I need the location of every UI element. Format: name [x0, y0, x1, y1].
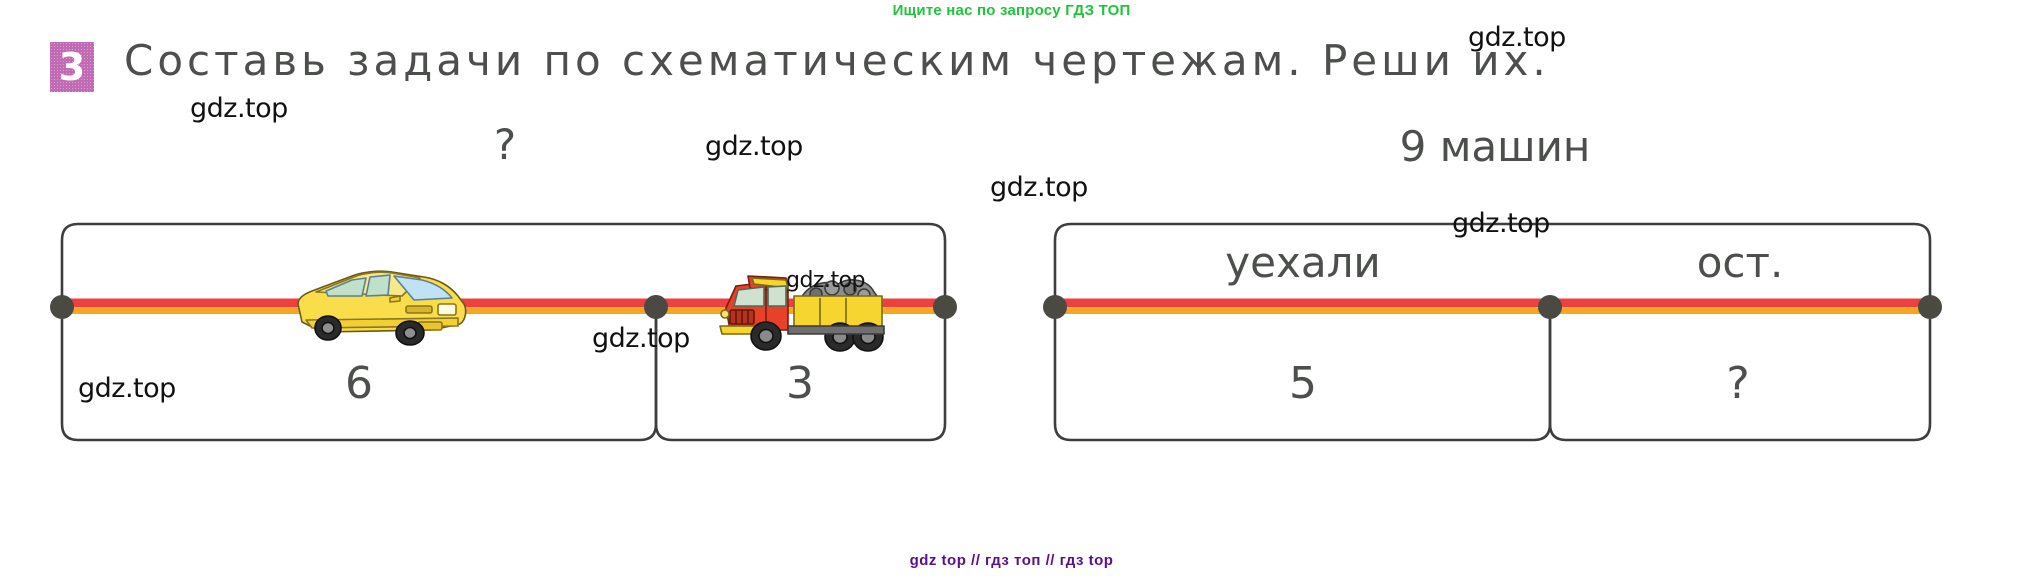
worksheet-page: Ищите нас по запросу ГДЗ ТОП 3 Составь з… — [0, 0, 2023, 580]
segment-dot-right-middle — [1538, 295, 1562, 319]
right-scheme-part2-label: ост. — [1620, 238, 1860, 287]
watermark-6: gdz.top — [786, 268, 865, 293]
watermark-2: gdz.top — [705, 131, 803, 162]
segment-dot-right-start — [1043, 295, 1067, 319]
right-scheme-part1-label: уехали — [1128, 238, 1478, 287]
watermark-1: gdz.top — [190, 93, 288, 124]
right-scheme-top-label: 9 машин — [1300, 122, 1690, 171]
watermark-8: gdz.top — [78, 373, 176, 404]
right-scheme-part1-value: 5 — [1228, 358, 1378, 409]
right-scheme — [0, 0, 2023, 580]
watermark-3: gdz.top — [1468, 22, 1566, 53]
watermark-5: gdz.top — [1452, 208, 1550, 239]
footer-text: gdz top // гдз топ // гдз top — [0, 552, 2023, 569]
watermark-7: gdz.top — [592, 323, 690, 354]
right-scheme-svg — [0, 0, 2023, 580]
segment-dot-right-end — [1918, 295, 1942, 319]
right-scheme-part2-value: ? — [1663, 358, 1813, 409]
watermark-4: gdz.top — [990, 172, 1088, 203]
